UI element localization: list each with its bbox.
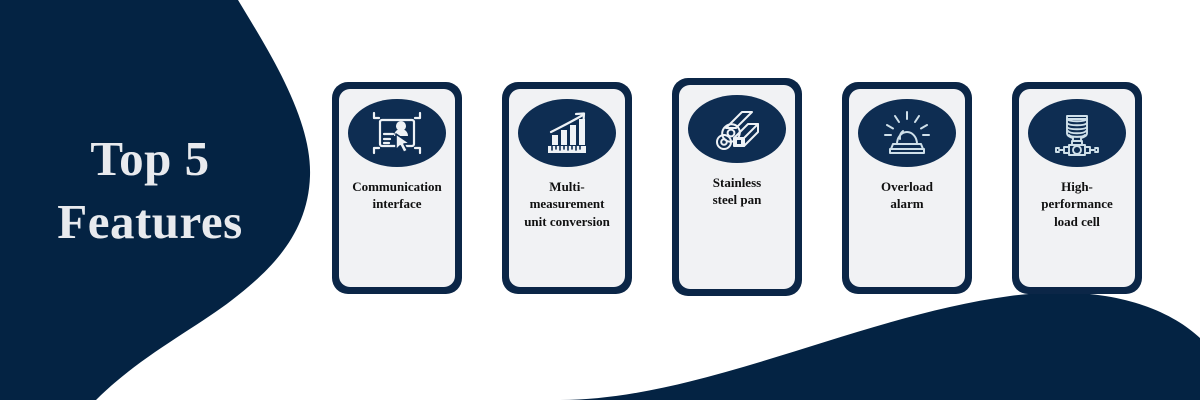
- label-line-2: measurement: [530, 196, 605, 211]
- label-line-2: performance: [1041, 196, 1112, 211]
- feature-card-body: High- performance load cell: [1019, 89, 1135, 287]
- label-line-1: High-: [1061, 179, 1093, 194]
- bar-chart-ruler-icon: [518, 99, 616, 167]
- feature-card-high-performance-load-cell[interactable]: High- performance load cell: [1012, 82, 1142, 294]
- label-line-3: unit conversion: [524, 214, 610, 229]
- label-line-1: Communication: [352, 179, 442, 194]
- label-line-3: load cell: [1054, 214, 1100, 229]
- feature-card-label: Multi- measurement unit conversion: [509, 178, 625, 230]
- bottom-right-wave: [560, 293, 1200, 400]
- feature-card-label: High- performance load cell: [1019, 178, 1135, 230]
- page-title-line-1: Top 5: [0, 128, 300, 191]
- feature-card-label: Communication interface: [339, 178, 455, 213]
- label-line-1: Stainless: [713, 175, 761, 190]
- feature-card-stainless-steel-pan[interactable]: Stainless steel pan: [672, 78, 802, 296]
- feature-card-body: Communication interface: [339, 89, 455, 287]
- page-title: Top 5 Features: [0, 128, 300, 253]
- feature-card-body: Multi- measurement unit conversion: [509, 89, 625, 287]
- feature-card-body: Stainless steel pan: [679, 85, 795, 289]
- label-line-2: steel pan: [713, 192, 762, 207]
- feature-card-label: Stainless steel pan: [679, 174, 795, 209]
- feature-card-overload-alarm[interactable]: Overload alarm: [842, 82, 972, 294]
- label-line-2: interface: [372, 196, 421, 211]
- page-title-line-2: Features: [0, 191, 300, 254]
- feature-card-communication-interface[interactable]: Communication interface: [332, 82, 462, 294]
- steel-tubes-icon: [688, 95, 786, 163]
- load-cell-icon: [1028, 99, 1126, 167]
- siren-beacon-icon: [858, 99, 956, 167]
- id-card-cursor-icon: [348, 99, 446, 167]
- label-line-2: alarm: [890, 196, 923, 211]
- infographic-banner: Top 5 Features: [0, 0, 1200, 400]
- feature-card-multi-measurement-unit-conversion[interactable]: Multi- measurement unit conversion: [502, 82, 632, 294]
- label-line-1: Overload: [881, 179, 933, 194]
- label-line-1: Multi-: [549, 179, 584, 194]
- feature-card-list: Communication interface: [332, 82, 1152, 294]
- feature-card-body: Overload alarm: [849, 89, 965, 287]
- feature-card-label: Overload alarm: [849, 178, 965, 213]
